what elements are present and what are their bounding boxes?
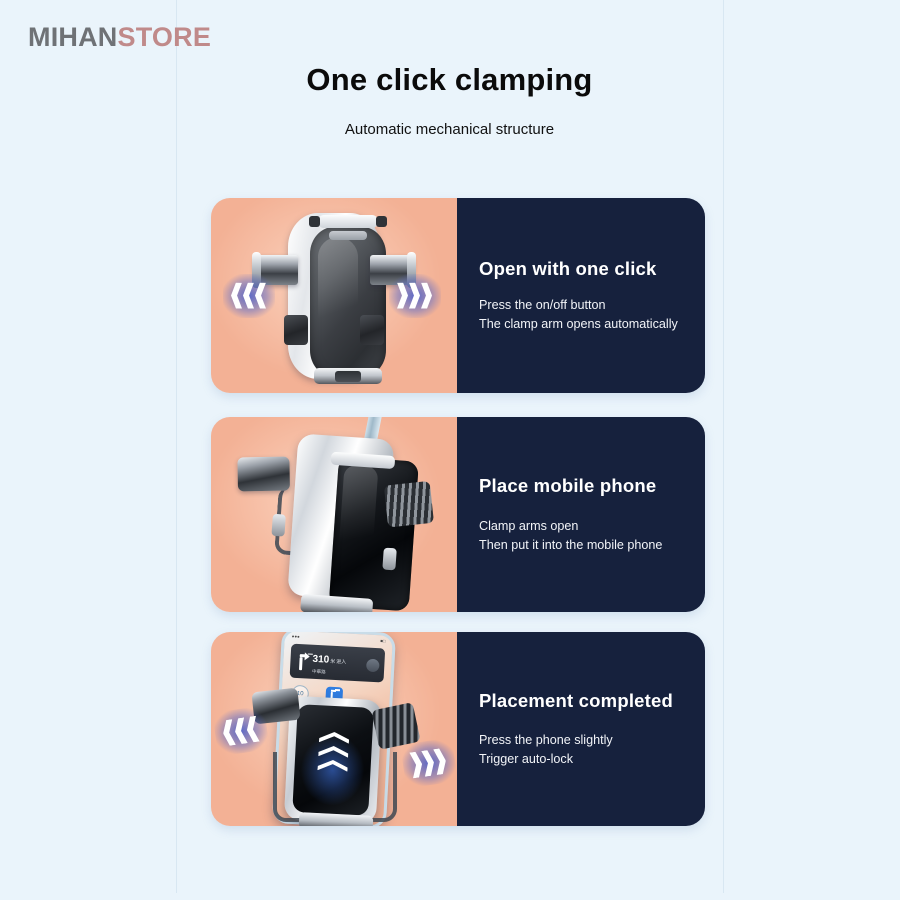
step-2-heading: Place mobile phone [479,475,705,497]
right-divider-rule [723,0,724,893]
step-1-text-panel: Open with one click Press the on/off but… [457,198,705,393]
holder-face [310,227,386,377]
step-3-illustration: ●●● ■□ 310米进入 中華路 10 [211,632,457,826]
product-infographic-page: MIHANSTORE One click clamping Automatic … [0,0,900,900]
clamp-arm-right [384,480,434,527]
step-1-heading: Open with one click [479,258,705,280]
holder-foot [314,368,382,384]
step-3-line-1: Press the phone slightly [479,731,705,750]
phone-holder-front-graphic [274,207,394,385]
status-bar-right: ■□ [380,638,386,643]
navigation-unit: 米 [330,659,335,665]
holder-knob-right [382,547,397,570]
step-1-line-2: The clamp arm opens automatically [479,315,705,334]
step-2-illustration [211,417,457,612]
page-subtitle: Automatic mechanical structure [176,121,723,138]
holder-cradle [287,433,394,601]
brand-logo: MIHANSTORE [28,24,211,51]
arrow-cluster-right-3 [409,748,448,779]
holder-top-tab [318,215,378,228]
brand-logo-secondary: STORE [118,22,212,52]
navigation-action: 进入 [336,659,346,666]
step-3-heading: Placement completed [479,690,705,712]
navigation-road-name: 中華路 [312,669,346,677]
step-2-text-panel: Place mobile phone Clamp arms open Then … [457,417,705,612]
turn-right-icon [295,652,309,671]
step-card-2[interactable]: Place mobile phone Clamp arms open Then … [211,417,705,612]
chevron-up-icon [319,731,350,744]
navigation-distance-block: 310米进入 中華路 [312,649,347,677]
step-3-text-panel: Placement completed Press the phone slig… [457,632,705,826]
step-1-illustration [211,198,457,393]
step-card-1[interactable]: Open with one click Press the on/off but… [211,198,705,393]
arrow-cluster-left-1 [231,283,267,309]
status-bar-left: ●●● [292,633,300,638]
side-pad-left [284,315,308,345]
navigation-distance: 310 [312,654,329,666]
holder-body [288,213,380,379]
holder-notch [329,231,367,240]
step-card-3[interactable]: ●●● ■□ 310米进入 中華路 10 [211,632,705,826]
navigation-compass-icon [366,658,380,672]
navigation-banner: 310米进入 中華路 [290,644,386,683]
page-title: One click clamping [176,62,723,98]
clamp-arm-left [237,456,290,491]
step-2-line-2: Then put it into the mobile phone [479,536,705,555]
arrow-cluster-left-3 [221,716,260,747]
step-1-line-1: Press the on/off button [479,296,705,315]
mobile-phone [329,456,419,611]
step-3-line-2: Trigger auto-lock [479,750,705,769]
step-2-line-1: Clamp arms open [479,517,705,536]
brand-logo-primary: MIHAN [28,22,118,52]
holder-knob-left [271,513,286,536]
side-pad-right [360,315,384,345]
phone-holder-angled-graphic [253,417,416,612]
arrow-cluster-right-1 [397,283,433,309]
holder-bracket [273,752,397,822]
